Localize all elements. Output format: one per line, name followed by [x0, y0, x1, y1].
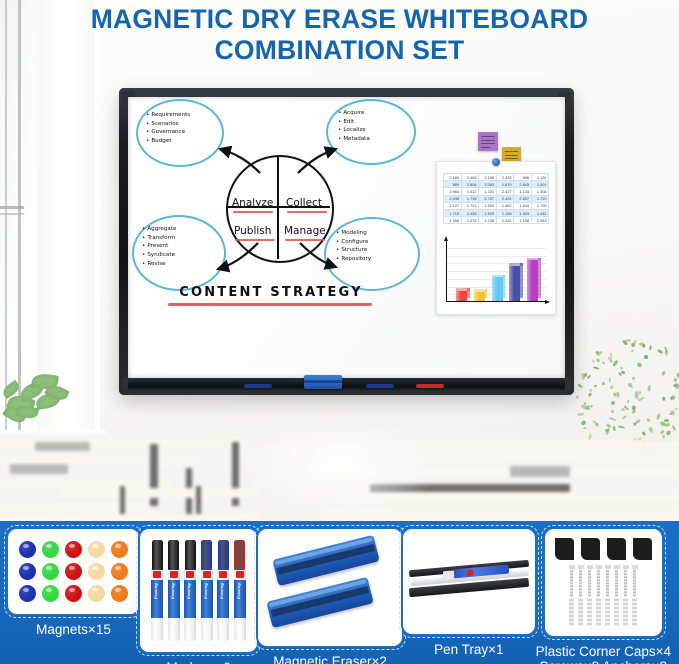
window-rail — [0, 213, 24, 215]
marker-band: Erasing — [168, 580, 180, 618]
table-row: 2.9841.5121.3312.4271.1331.308 — [444, 188, 549, 195]
plant-icon — [2, 368, 74, 434]
marker-cap — [201, 540, 212, 570]
marker-icon: Erasing — [167, 540, 180, 641]
corner-cap-icon — [555, 538, 574, 560]
pen-tray-group — [405, 531, 533, 632]
anchor-icon — [587, 597, 592, 627]
leaf-icon — [631, 343, 635, 347]
chart-gridline — [446, 256, 546, 257]
magnet-icon — [19, 541, 36, 558]
leaf-icon — [610, 409, 614, 413]
chart-bar-side — [503, 275, 506, 299]
accessory-label-line-1: Magnetic Eraser×2 — [273, 654, 387, 664]
marker-logo-icon — [219, 571, 227, 578]
table-cell: 2.127 — [444, 202, 462, 209]
accessory-label-mounting-hardware: Plastic Corner Caps×4Screws×8 Anchors×8 — [536, 644, 671, 664]
marker-cap — [218, 540, 229, 570]
leaf-icon — [596, 358, 601, 363]
screws-row — [555, 565, 652, 627]
leaf-icon — [620, 366, 623, 369]
table-cell: 1.715 — [444, 209, 462, 216]
leaf-icon — [664, 419, 669, 422]
marker-brand-text: Erasing — [219, 583, 224, 599]
whiteboard: AnalyzeCollectPublishManageRequirementsS… — [119, 88, 574, 395]
marker-icon: Erasing — [200, 540, 213, 641]
sticky-note-line — [481, 136, 495, 137]
marker-brand-text: Erasing — [186, 583, 191, 599]
screw-icon — [578, 565, 584, 627]
leaf-icon — [649, 346, 652, 351]
table-cell: 2.453 — [461, 174, 479, 181]
table-cell: 1.725 — [531, 202, 549, 209]
table-cell: 1.072 — [461, 217, 479, 224]
magnet-icon — [65, 541, 82, 558]
leaf-icon — [632, 376, 636, 380]
magnet-icon — [88, 585, 105, 602]
tray-marker-red — [416, 384, 444, 388]
chart-bar-face — [509, 266, 520, 301]
table-cell: 2.845 — [514, 181, 532, 188]
chart-bar — [492, 277, 503, 301]
table-cell: 2.083 — [479, 181, 497, 188]
leaf-icon — [674, 407, 678, 411]
marker-cap — [185, 540, 196, 570]
table-cell: 1.870 — [496, 181, 514, 188]
chart-bar-side — [538, 258, 541, 298]
window — [0, 0, 100, 430]
marker-band: Erasing — [151, 580, 163, 618]
accessory-label-line-1: Magnets×15 — [36, 622, 111, 637]
marker-logo-icon — [236, 571, 244, 578]
leaf-icon — [631, 350, 634, 354]
accessory-frame-mounting-hardware — [545, 529, 662, 636]
marker-band: Erasing — [217, 580, 229, 618]
chart-bar-top — [492, 275, 506, 278]
leaf-icon — [611, 401, 616, 406]
bar-chart — [446, 240, 546, 302]
table-cell: 896 — [514, 174, 532, 181]
corner-cap-icon — [581, 538, 600, 560]
table-cell: 2.804 — [461, 181, 479, 188]
leaf-icon — [663, 397, 666, 401]
marker-logo-icon — [170, 571, 178, 578]
table-cell: 2.196 — [479, 174, 497, 181]
leaf-icon — [610, 385, 615, 390]
table-cell: 2.453 — [531, 217, 549, 224]
anchor-icon — [596, 597, 601, 627]
desk — [35, 442, 90, 451]
table-cell: 2.160 — [444, 174, 462, 181]
wall-panel — [72, 0, 94, 430]
table-cell: 1.512 — [461, 188, 479, 195]
magnet-grid — [10, 531, 137, 612]
magnet-icon — [88, 563, 105, 580]
marker-brand-text: Erasing — [153, 583, 158, 599]
marker-logo-icon — [153, 571, 161, 578]
screw-shaft — [624, 569, 627, 599]
accessory-mounting-hardware: Plastic Corner Caps×4Screws×8 Anchors×8 — [536, 529, 671, 664]
accessory-label-magnets: Magnets×15 — [36, 622, 111, 637]
screw-shaft — [579, 569, 582, 599]
table-cell: 1.198 — [514, 217, 532, 224]
chart-x-arrow-icon — [545, 300, 550, 304]
screw-icon — [605, 565, 611, 627]
anchor-icon — [614, 597, 619, 627]
tray-eraser — [304, 375, 342, 389]
desk — [0, 502, 150, 511]
magnet-icon — [65, 585, 82, 602]
table-row: 8892.8042.0831.8702.8451.001 — [444, 181, 549, 188]
desk — [0, 514, 260, 521]
chart-bar-face — [456, 291, 467, 301]
table-cell: 2.498 — [461, 209, 479, 216]
accessory-label-pen-tray: Pen Tray×1 — [434, 642, 503, 657]
table-cell: 1.442 — [531, 209, 549, 216]
table-cell: 1.406 — [444, 217, 462, 224]
marker-icon: Erasing — [217, 540, 230, 641]
data-poster: 2.1602.4532.1962.4338962.1328892.8042.08… — [436, 161, 556, 315]
pen-tray-marker-tip — [443, 570, 455, 578]
table-cell: 2.032 — [496, 217, 514, 224]
leaf-icon — [656, 413, 661, 421]
table-cell: 2.048 — [444, 195, 462, 202]
chart-bar-top — [527, 258, 541, 261]
sticky-note-line — [505, 155, 518, 156]
table-cell: 1.529 — [479, 209, 497, 216]
leaf-icon — [647, 385, 651, 391]
leaf-icon — [639, 391, 642, 394]
data-table: 2.1602.4532.1962.4338962.1328892.8042.08… — [443, 173, 549, 224]
marker-band: Erasing — [234, 580, 246, 618]
accessory-markers: ErasingErasingErasingErasingErasingErasi… — [140, 529, 258, 664]
table-cell: 2.433 — [496, 174, 514, 181]
chart-bar-top — [456, 288, 470, 291]
chart-bar — [527, 260, 538, 300]
leaf-icon — [627, 400, 631, 404]
leaf-icon — [602, 381, 605, 385]
leaf-icon — [673, 377, 677, 382]
diagram-caption: CONTENT STRATEGY — [156, 285, 386, 300]
screw-shaft — [570, 569, 573, 599]
marker-band: Erasing — [201, 580, 213, 618]
marker-brand-text: Erasing — [236, 583, 241, 599]
accessory-label-magnetic-eraser: Magnetic Eraser×2 — [273, 654, 387, 664]
leaf-icon — [610, 352, 613, 358]
leaf-icon — [661, 371, 665, 377]
accessory-frame-magnets — [8, 529, 139, 614]
screw-shaft — [606, 569, 609, 599]
magnet-icon — [42, 563, 59, 580]
chart-gridline — [446, 248, 546, 249]
magnet-icon — [88, 541, 105, 558]
anchor-icon — [623, 597, 628, 627]
accessory-label-line-2: Screws×8 Anchors×8 — [536, 659, 671, 664]
table-cell: 889 — [444, 181, 462, 188]
table-cell: 1.133 — [514, 188, 532, 195]
chart-bar — [456, 291, 467, 301]
accessory-magnetic-eraser: Magnetic Eraser×2 — [258, 529, 402, 664]
window-mullion — [5, 0, 7, 430]
leaf-icon — [636, 362, 643, 368]
eraser-group — [260, 531, 400, 644]
magnet-icon — [42, 585, 59, 602]
accessory-frame-markers: ErasingErasingErasingErasingErasingErasi… — [140, 529, 258, 652]
leaf-icon — [590, 404, 594, 408]
table-row: 1.7152.4981.5291.1991.9031.442 — [444, 209, 549, 216]
leaf-icon — [644, 355, 648, 359]
screw-icon — [569, 565, 575, 627]
screw-shaft — [597, 569, 600, 599]
accessory-band: Magnets×15ErasingErasingErasingErasingEr… — [0, 521, 679, 664]
sticky-note-line — [481, 143, 495, 144]
screw-shaft — [588, 569, 591, 599]
table-cell: 1.903 — [514, 209, 532, 216]
leaf-icon — [646, 418, 651, 423]
leaf-icon — [621, 414, 627, 419]
anchor-icon — [632, 597, 637, 627]
pen-tray-marker-logo-icon — [467, 569, 474, 576]
table-row: 2.0481.7182.7572.4242.6971.710 — [444, 195, 549, 202]
light-glare — [240, 428, 440, 521]
marker-logo-icon — [186, 571, 194, 578]
tray-marker-blue-1 — [244, 384, 272, 388]
table-cell: 1.718 — [461, 195, 479, 202]
leaf-icon — [593, 367, 600, 371]
table-row: 1.4061.0721.2382.0321.1982.453 — [444, 217, 549, 224]
screw-icon — [596, 565, 602, 627]
table-cell: 2.424 — [496, 195, 514, 202]
accessory-label-line-1: Plastic Corner Caps×4 — [536, 644, 671, 659]
chart-bar-side — [520, 263, 523, 298]
leaf-icon — [576, 412, 583, 416]
table-cell: 1.554 — [479, 202, 497, 209]
chart-x-axis — [446, 301, 546, 302]
leaf-icon — [583, 373, 586, 377]
marker-logo-icon — [203, 571, 211, 578]
marker-icon: Erasing — [184, 540, 197, 641]
marker-cap — [234, 540, 245, 570]
marker-icon: Erasing — [233, 540, 246, 641]
marker-band: Erasing — [184, 580, 196, 618]
table-cell: 2.427 — [496, 188, 514, 195]
anchor-icon — [569, 597, 574, 627]
table-cell: 2.757 — [479, 195, 497, 202]
data-table-element: 2.1602.4532.1962.4338962.1328892.8042.08… — [443, 173, 549, 224]
sticky-note-line — [505, 151, 518, 152]
accessory-label-markers: Markers×6 — [166, 660, 230, 664]
table-row: 2.1602.4532.1962.4338962.132 — [444, 174, 549, 181]
table-cell: 1.308 — [531, 188, 549, 195]
screw-icon — [614, 565, 620, 627]
window-rail — [0, 206, 24, 209]
leaf-icon — [588, 391, 593, 397]
marker-brand-text: Erasing — [170, 583, 175, 599]
anchor-icon — [578, 597, 583, 627]
magnet-icon — [19, 585, 36, 602]
leaf-icon — [608, 378, 611, 382]
screw-icon — [587, 565, 593, 627]
leaf-icon — [631, 386, 634, 388]
whiteboard-surface: AnalyzeCollectPublishManageRequirementsS… — [128, 97, 565, 378]
hardware-group — [547, 531, 660, 634]
leaf-icon — [591, 359, 595, 364]
leaf-icon — [656, 348, 663, 354]
chart-bar-face — [474, 292, 485, 301]
table-cell: 1.721 — [461, 202, 479, 209]
magnet-icon — [111, 541, 128, 558]
table-cell: 1.238 — [479, 217, 497, 224]
accessory-magnets: Magnets×15 — [8, 529, 139, 637]
magnet-icon — [19, 563, 36, 580]
board-pen-tray — [128, 379, 565, 392]
accessory-frame-magnetic-eraser — [258, 529, 402, 646]
room-scene: AnalyzeCollectPublishManageRequirementsS… — [0, 0, 679, 521]
corner-cap-icon — [633, 538, 652, 560]
marker-cap — [152, 540, 163, 570]
leaf-icon — [601, 361, 605, 365]
marker-cap — [168, 540, 179, 570]
table-cell: 1.001 — [531, 181, 549, 188]
table-cell: 1.662 — [496, 202, 514, 209]
leaf-icon — [587, 374, 591, 378]
diagram-caption-underline — [168, 303, 372, 306]
table-cell: 1.710 — [531, 195, 549, 202]
chart-y-arrow-icon — [444, 236, 448, 241]
table-cell: 2.697 — [514, 195, 532, 202]
anchor-icon — [605, 597, 610, 627]
window-mullion — [18, 0, 21, 430]
table-cell: 1.844 — [514, 202, 532, 209]
leaf-icon — [594, 385, 597, 387]
desk — [10, 464, 68, 474]
accessory-pen-tray: Pen Tray×1 — [403, 529, 535, 657]
table-cell: 2.984 — [444, 188, 462, 195]
leaf-icon — [674, 383, 679, 389]
accessory-label-line-1: Markers×6 — [166, 660, 230, 664]
marker-row: ErasingErasingErasingErasingErasingErasi… — [142, 531, 256, 650]
screw-shaft — [615, 569, 618, 599]
table-cell: 2.132 — [531, 174, 549, 181]
chart-bar-top — [509, 263, 523, 266]
accessory-list: Magnets×15ErasingErasingErasingErasingEr… — [0, 521, 679, 664]
desk — [60, 488, 260, 498]
chart-bar-face — [492, 277, 503, 301]
leaf-icon — [667, 422, 671, 426]
table-cell: 1.331 — [479, 188, 497, 195]
leaf-icon — [577, 383, 581, 387]
marker-icon: Erasing — [151, 540, 164, 641]
tray-marker-blue-2 — [366, 384, 394, 388]
corner-caps-row — [555, 538, 652, 560]
chart-bar-top — [474, 289, 488, 292]
leaf-icon — [669, 395, 675, 400]
wall-panel — [38, 0, 64, 430]
leaf-icon — [634, 391, 638, 398]
magnet-icon — [42, 541, 59, 558]
product-image: MAGNETIC DRY ERASE WHITEBOARD COMBINATIO… — [0, 0, 679, 664]
marker-brand-text: Erasing — [203, 583, 208, 599]
table-row: 2.1271.7211.5541.6621.8441.725 — [444, 202, 549, 209]
leaf-icon — [609, 417, 616, 422]
desk — [510, 466, 570, 477]
magnet-icon — [111, 585, 128, 602]
magnet-icon — [492, 158, 500, 166]
leaf-icon — [632, 405, 636, 411]
accessory-frame-pen-tray — [403, 529, 535, 634]
corner-cap-icon — [607, 538, 626, 560]
leaf-icon — [642, 344, 646, 348]
sticky-note-line — [481, 147, 490, 148]
leaf-icon — [638, 396, 645, 402]
sticky-note-line — [505, 158, 518, 159]
screw-shaft — [633, 569, 636, 599]
sticky-note-purple — [478, 132, 498, 151]
leaf-icon — [576, 395, 580, 399]
chart-bar-face — [527, 260, 538, 300]
chart-bar — [474, 292, 485, 301]
chart-y-axis — [446, 240, 447, 302]
sticky-note-line — [481, 140, 495, 141]
screw-icon — [632, 565, 638, 627]
screw-icon — [623, 565, 629, 627]
magnet-icon — [65, 563, 82, 580]
magnet-icon — [111, 563, 128, 580]
accessory-label-line-1: Pen Tray×1 — [434, 642, 503, 657]
leaf-icon — [626, 408, 629, 411]
chart-bar — [509, 266, 520, 301]
leaf-icon — [580, 420, 586, 426]
table-cell: 1.199 — [496, 209, 514, 216]
